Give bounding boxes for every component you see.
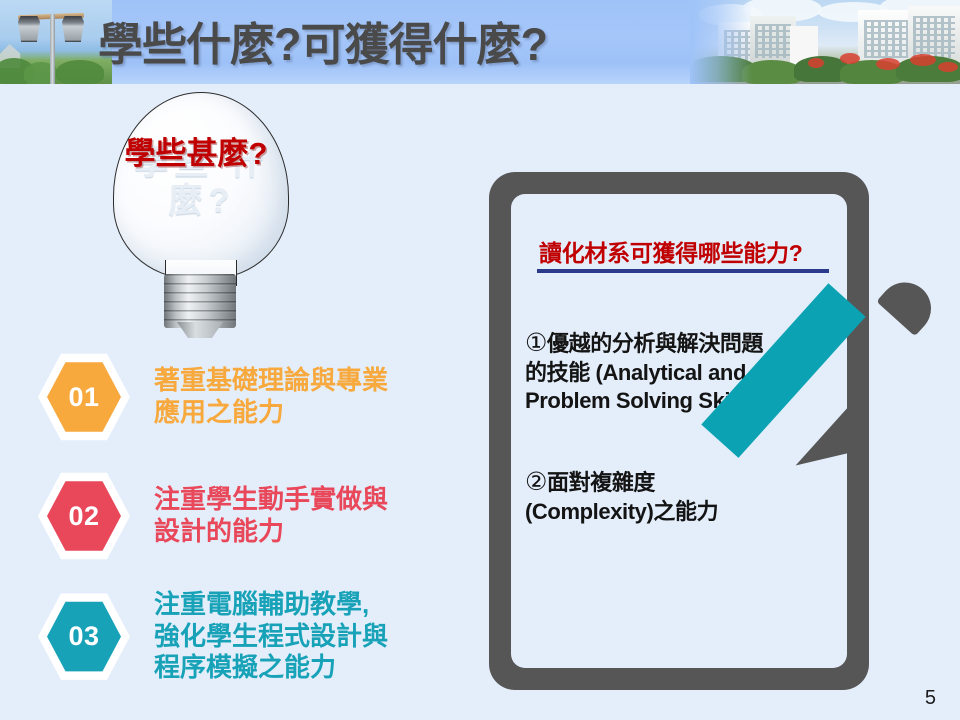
objective-text-03: 注重電腦輔助教學, 強化學生程式設計與 程序模擬之能力 xyxy=(154,589,388,684)
objective-row-02: 02 注重學生動手實做與 設計的能力 xyxy=(38,470,388,562)
panel-title: 讀化材系可獲得哪些能力? xyxy=(539,234,829,268)
flowering-tree xyxy=(876,58,900,70)
bulb-screw-base xyxy=(164,274,236,328)
pencil-eraser-cap xyxy=(876,272,941,337)
objective-row-03: 03 注重電腦輔助教學, 強化學生程式設計與 程序模擬之能力 xyxy=(38,589,388,684)
bulb-contact-tip xyxy=(177,322,223,338)
objective-number-01: 01 xyxy=(68,382,99,413)
tablet-screen: 讀化材系可獲得哪些能力? ①優越的分析與解決問題 的技能 (Analytical… xyxy=(511,194,847,668)
photo-edge-fade xyxy=(690,0,752,84)
slide-page-number: 5 xyxy=(925,687,936,710)
flowering-tree xyxy=(808,58,824,68)
objective-text-01: 著重基礎理論與專業 應用之能力 xyxy=(154,365,388,428)
flowering-tree xyxy=(938,62,958,72)
building-windows xyxy=(755,24,791,58)
lamp-head-icon xyxy=(18,16,40,42)
panel-item-1-marker: ① xyxy=(525,329,547,357)
objective-number-03: 03 xyxy=(68,621,99,652)
bulb-headline: 學些甚麼? xyxy=(100,128,292,173)
header-banner: 學些什麼?可獲得什麼? xyxy=(0,0,960,84)
panel-divider xyxy=(537,269,829,273)
objective-text-02: 注重學生動手實做與 設計的能力 xyxy=(154,484,388,547)
panel-item-1: ①優越的分析與解決問題 的技能 (Analytical and Problem … xyxy=(525,300,847,415)
tablet-frame: 讀化材系可獲得哪些能力? ①優越的分析與解決問題 的技能 (Analytical… xyxy=(489,172,869,690)
lamp-photo-tree xyxy=(56,60,104,84)
hexagon-badge-03: 03 xyxy=(38,591,130,683)
hexagon-badge-02: 02 xyxy=(38,470,130,562)
street-lamp-post-photo xyxy=(0,0,112,84)
panel-item-1-text: 優越的分析與解決問題 的技能 (Analytical and Problem S… xyxy=(525,331,763,413)
panel-item-2-text: 面對複雜度 (Complexity)之能力 xyxy=(525,470,718,525)
page-title: 學些什麼?可獲得什麼? xyxy=(98,8,547,73)
building-windows xyxy=(864,20,910,58)
campus-buildings-photo xyxy=(690,0,960,84)
building-windows xyxy=(913,16,955,58)
panel-item-2-marker: ② xyxy=(525,468,547,496)
lamp-head-icon xyxy=(62,16,84,42)
flowering-tree xyxy=(910,54,936,66)
flowering-tree xyxy=(840,53,860,64)
hexagon-badge-01: 01 xyxy=(38,351,130,443)
objective-row-01: 01 著重基礎理論與專業 應用之能力 xyxy=(38,351,388,443)
objective-number-02: 02 xyxy=(68,501,99,532)
lamp-post-pole xyxy=(50,14,55,84)
panel-item-2: ②面對複雜度 (Complexity)之能力 xyxy=(525,439,847,526)
